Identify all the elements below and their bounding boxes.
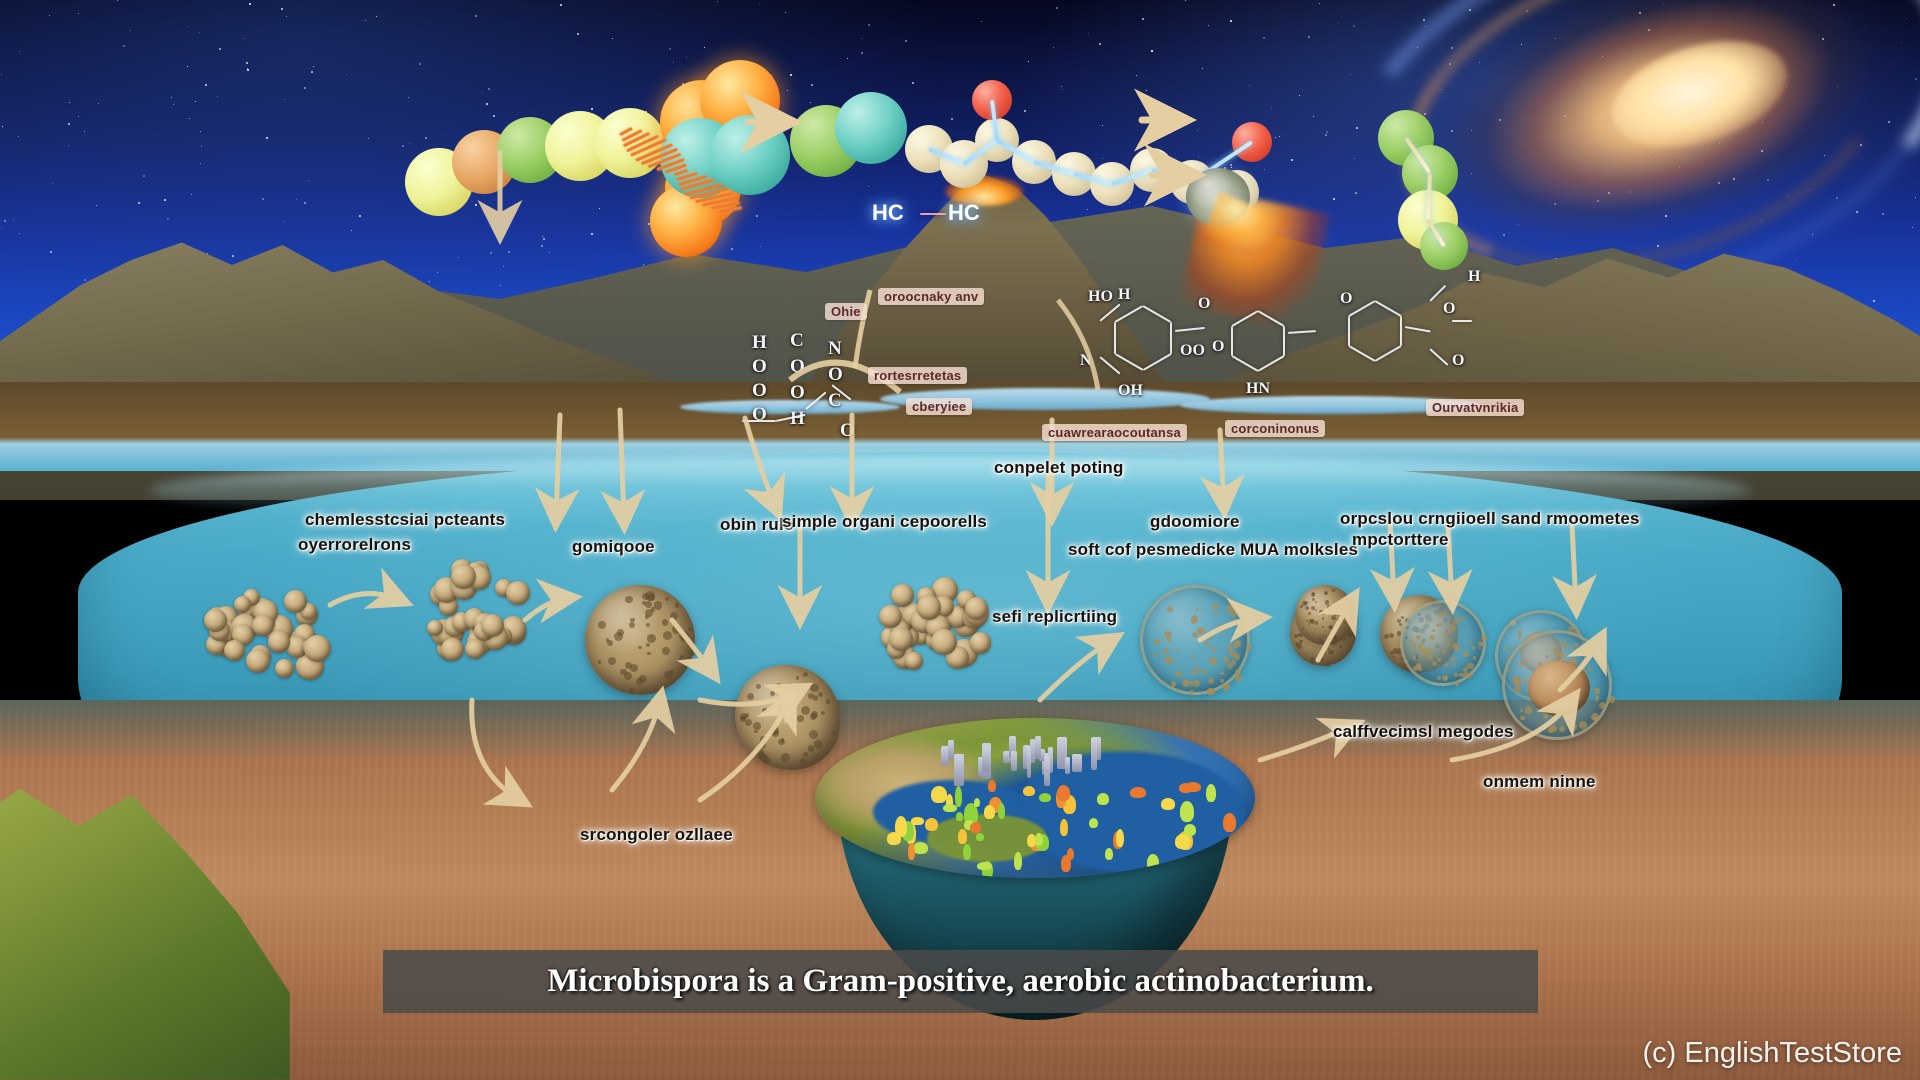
water-label: srcongoler ozllaee (580, 825, 733, 845)
water-label: gomiqooe (572, 537, 655, 557)
water-label: gdoomiore (1150, 512, 1240, 532)
water-label: calffvecimsl megodes (1333, 722, 1514, 742)
caption-bar: Microbispora is a Gram-positive, aerobic… (383, 950, 1538, 1013)
land-label: cuawrearaocoutansa (1042, 424, 1187, 441)
land-label: Ourvatvnrikia (1426, 399, 1524, 416)
land-label: corconinonus (1225, 420, 1325, 437)
land-label: oroocnaky anv (878, 288, 984, 305)
water-label: simple organi cepoorells (782, 512, 987, 532)
caption-text: Microbispora is a Gram-positive, aerobic… (547, 963, 1373, 1000)
land-label: rortesrretetas (868, 367, 967, 384)
water-label: oyerrorelrons (298, 535, 411, 555)
water-label: orpcslou crngiioell sand rmoometes (1340, 509, 1640, 529)
water-label: soft cof pesmedicke MUA molksles (1068, 540, 1358, 560)
land-label: Ohie (825, 303, 867, 320)
water-label: sefi replicrtiing (992, 607, 1117, 627)
water-label: onmem ninne (1483, 772, 1596, 792)
watermark: (c) EnglishTestStore (1643, 1037, 1903, 1070)
water-label: mpctorttere (1352, 530, 1449, 550)
water-label: chemlesstcsiai pcteants (305, 510, 505, 530)
water-label: conpelet poting (994, 458, 1124, 478)
scene-root: HC HC HOOOCOOHNOCO HOHNOOHNOOOOOHOH oroo… (0, 0, 1920, 1080)
land-label: cberyiee (906, 398, 972, 415)
